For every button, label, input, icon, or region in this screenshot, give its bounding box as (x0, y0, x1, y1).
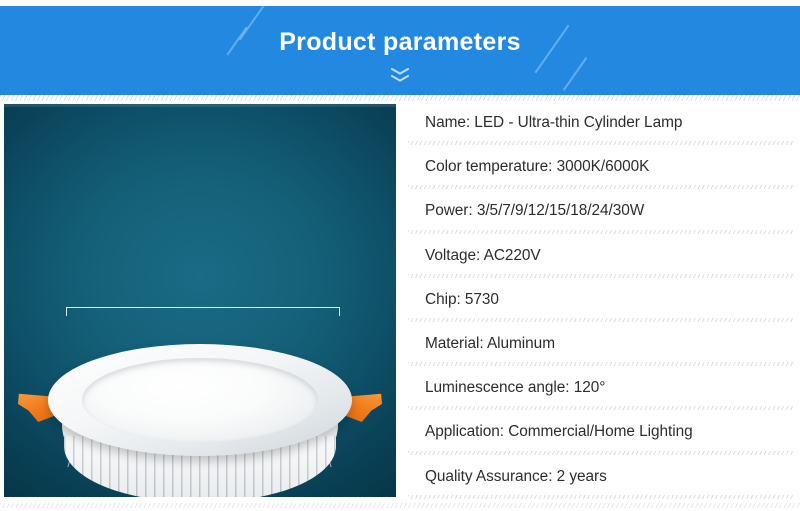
dimension-bracket-top (66, 307, 340, 316)
spec-divider (408, 495, 794, 499)
page-title: Product parameters (0, 28, 800, 57)
spec-text-name: Name: LED - Ultra-thin Cylinder Lamp (404, 114, 682, 132)
lamp-diffuser (82, 358, 318, 442)
spec-text-voltage: Voltage: AC220V (404, 247, 541, 265)
spec-row: Color temperature: 3000K/6000K (404, 145, 796, 189)
spec-row: Name: LED - Ultra-thin Cylinder Lamp (404, 101, 796, 145)
spec-text-color-temperature: Color temperature: 3000K/6000K (404, 158, 649, 176)
spec-row: Chip: 5730 (404, 278, 796, 322)
spec-row: Luminescence angle: 120° (404, 366, 796, 410)
page-bottom-divider (0, 503, 800, 508)
spec-row: Material: Aluminum (404, 322, 796, 366)
product-photo (4, 104, 396, 497)
spec-text-luminescence-angle: Luminescence angle: 120° (404, 379, 605, 397)
banner-streak-decoration (563, 57, 588, 91)
spec-text-material: Material: Aluminum (404, 335, 555, 353)
spec-text-power: Power: 3/5/7/9/12/15/18/24/30W (404, 202, 644, 220)
spec-text-chip: Chip: 5730 (404, 291, 499, 309)
led-downlight-illustration (48, 344, 352, 497)
scroll-hint (0, 68, 800, 82)
spec-row: Quality Assurance: 2 years (404, 455, 796, 499)
specification-list: Name: LED - Ultra-thin Cylinder Lamp Col… (404, 101, 796, 501)
chevron-down-icon (391, 68, 409, 75)
spec-row: Application: Commercial/Home Lighting (404, 410, 796, 454)
chevron-down-icon (391, 75, 409, 82)
spec-text-application: Application: Commercial/Home Lighting (404, 423, 693, 441)
product-parameters-page: Product parameters (0, 0, 800, 511)
photo-top-highlight (4, 104, 396, 107)
spec-row: Voltage: AC220V (404, 234, 796, 278)
spec-text-quality-assurance: Quality Assurance: 2 years (404, 468, 607, 486)
page-banner: Product parameters (0, 6, 800, 95)
spec-row: Power: 3/5/7/9/12/15/18/24/30W (404, 189, 796, 233)
